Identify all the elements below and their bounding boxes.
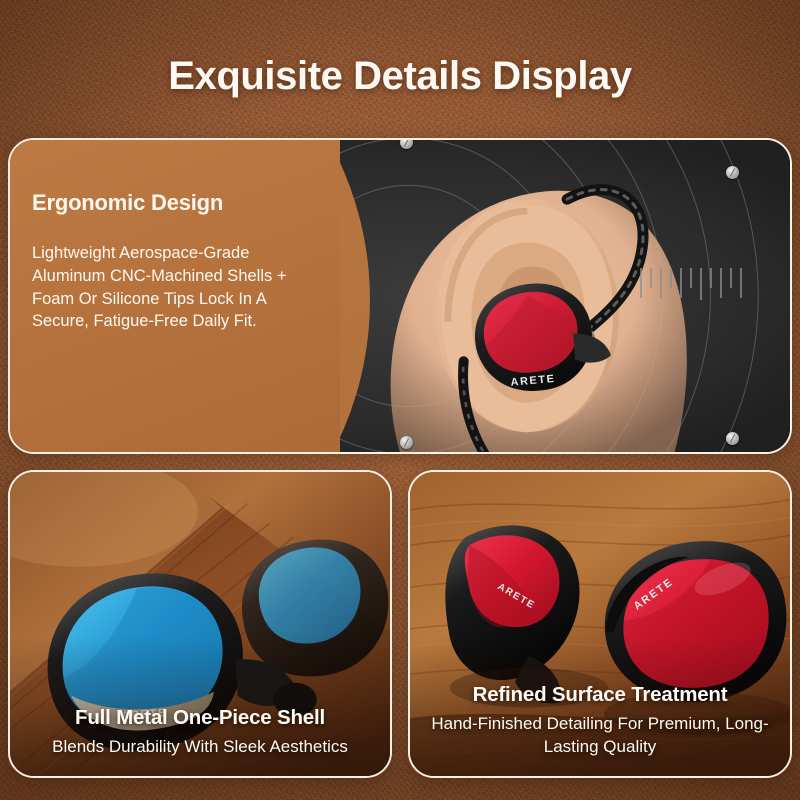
page-title: Exquisite Details Display [0, 54, 800, 99]
surface-caption-title: Refined Surface Treatment [424, 683, 776, 707]
shell-caption-subtitle: Blends Durability With Sleek Aesthetics [24, 736, 376, 758]
screw-icon [726, 166, 739, 179]
product-detail-page: Exquisite Details Display [0, 0, 800, 800]
screw-icon [726, 432, 739, 445]
ergonomic-body-text: Lightweight Aerospace-Grade Aluminum CNC… [32, 242, 294, 333]
surface-caption: Refined Surface Treatment Hand-Finished … [410, 683, 790, 758]
card-full-metal-shell: ARETE Full Metal One-Piece Shell Blends … [8, 470, 392, 778]
screw-icon [400, 436, 413, 449]
ergonomic-heading: Ergonomic Design [32, 190, 294, 216]
surface-caption-subtitle: Hand-Finished Detailing For Premium, Lon… [424, 713, 776, 758]
ergonomic-text-block: Ergonomic Design Lightweight Aerospace-G… [32, 190, 294, 333]
shell-caption: Full Metal One-Piece Shell Blends Durabi… [10, 706, 390, 758]
shell-caption-title: Full Metal One-Piece Shell [24, 706, 376, 730]
card-ergonomic-design: ARETE Ergonomic Design Lightweight Aeros… [8, 138, 792, 454]
measurement-ticks-graphic [640, 268, 742, 300]
card-refined-surface: ARETE ARETE Refined Surface Treatment [408, 470, 792, 778]
